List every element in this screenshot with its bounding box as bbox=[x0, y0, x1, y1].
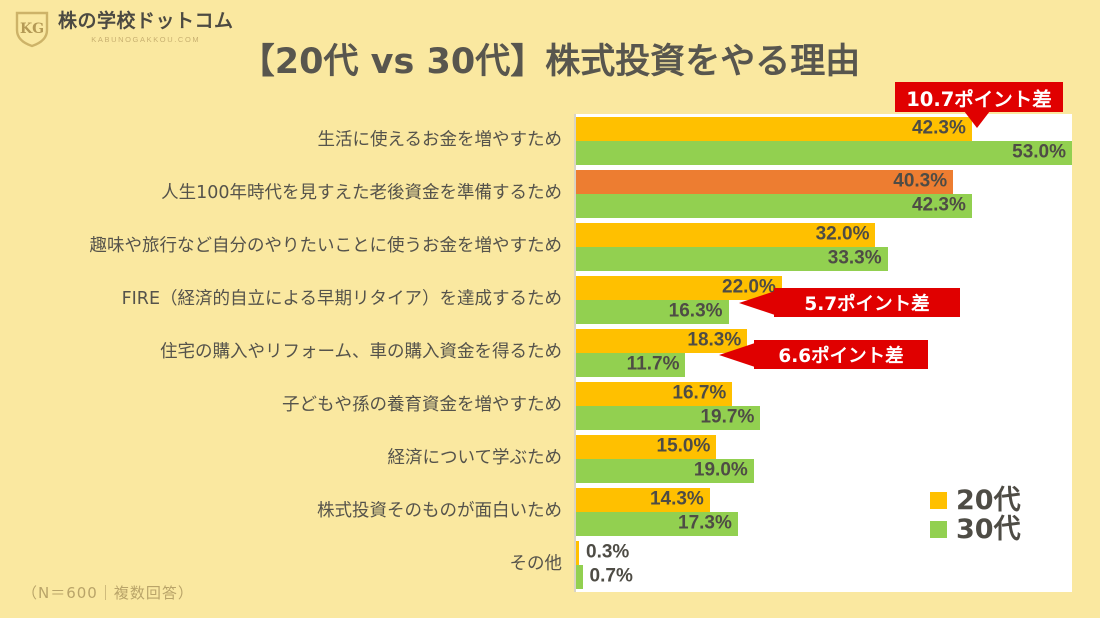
bar-30s: 17.3% bbox=[576, 512, 738, 536]
category-label: 趣味や旅行など自分のやりたいことに使うお金を増やすため bbox=[90, 238, 563, 256]
legend-item-20s: 20代 bbox=[930, 487, 1021, 514]
bar-value-label: 0.3% bbox=[586, 542, 629, 564]
bar-30s: 42.3% bbox=[576, 194, 972, 218]
bar-20s: 32.0% bbox=[576, 223, 875, 247]
bar-value-label: 11.7% bbox=[627, 354, 680, 376]
bar-value-label: 53.0% bbox=[1012, 141, 1066, 163]
annotation-callout-0: 10.7ポイント差 bbox=[895, 82, 1063, 112]
legend-swatch-20s bbox=[930, 492, 947, 509]
page-title: 【20代 vs 30代】株式投資をやる理由 bbox=[0, 33, 1100, 84]
bar-30s: 33.3% bbox=[576, 247, 888, 271]
bar-value-label: 42.3% bbox=[912, 194, 966, 216]
legend-label-30s: 30代 bbox=[956, 516, 1021, 543]
bar-30s: 0.7% bbox=[576, 565, 583, 589]
bar-20s: 14.3% bbox=[576, 488, 710, 512]
category-label: 住宅の購入やリフォーム、車の購入資金を得るため bbox=[160, 344, 562, 362]
bar-20s: 0.3% bbox=[576, 541, 579, 565]
bar-20s: 40.3% bbox=[576, 170, 953, 194]
chart-legend: 20代 30代 bbox=[930, 487, 1021, 545]
category-label: その他 bbox=[510, 556, 563, 574]
logo-name: 株の学校ドットコム bbox=[58, 12, 234, 32]
annotation-arrow-left-icon bbox=[739, 291, 775, 315]
category-label: 生活に使えるお金を増やすため bbox=[318, 132, 562, 150]
bar-30s: 19.0% bbox=[576, 459, 754, 483]
slide-canvas: KG 株の学校ドットコム KABUNOGAKKOU.COM 【20代 vs 30… bbox=[0, 0, 1100, 618]
legend-label-20s: 20代 bbox=[956, 487, 1021, 514]
bar-value-label: 15.0% bbox=[657, 436, 711, 458]
bar-value-label: 40.3% bbox=[893, 170, 947, 192]
bar-30s: 19.7% bbox=[576, 406, 760, 430]
legend-item-30s: 30代 bbox=[930, 516, 1021, 543]
bar-value-label: 16.3% bbox=[669, 300, 723, 322]
bar-20s: 42.3% bbox=[576, 117, 972, 141]
bar-30s: 16.3% bbox=[576, 300, 729, 324]
bar-value-label: 0.7% bbox=[590, 566, 633, 588]
bar-value-label: 19.7% bbox=[700, 407, 754, 429]
category-label: 株式投資そのものが面白いため bbox=[317, 503, 562, 521]
bar-value-label: 17.3% bbox=[678, 513, 732, 535]
bar-value-label: 32.0% bbox=[816, 223, 870, 245]
category-label: 人生100年時代を見すえた老後資金を準備するため bbox=[161, 185, 562, 203]
bar-20s: 15.0% bbox=[576, 435, 716, 459]
bar-value-label: 16.7% bbox=[672, 383, 726, 405]
bar-30s: 11.7% bbox=[576, 353, 685, 377]
legend-swatch-30s bbox=[930, 521, 947, 538]
bar-20s: 16.7% bbox=[576, 382, 732, 406]
category-label: FIRE（経済的自立による早期リタイア）を達成するため bbox=[122, 291, 562, 309]
annotation-arrow-left-icon bbox=[719, 343, 755, 367]
annotation-arrow-down-icon bbox=[964, 111, 990, 128]
bar-30s: 53.0% bbox=[576, 141, 1072, 165]
sample-size-note: （N＝600｜複数回答） bbox=[22, 582, 194, 603]
annotation-callout-1: 5.7ポイント差 bbox=[774, 288, 960, 317]
bar-value-label: 42.3% bbox=[912, 117, 966, 139]
annotation-callout-2: 6.6ポイント差 bbox=[754, 340, 928, 369]
bar-value-label: 33.3% bbox=[828, 247, 882, 269]
category-label: 子どもや孫の養育資金を増やすため bbox=[282, 397, 562, 415]
category-label: 経済について学ぶため bbox=[388, 450, 562, 468]
bar-value-label: 14.3% bbox=[650, 489, 704, 511]
bar-value-label: 19.0% bbox=[694, 460, 748, 482]
